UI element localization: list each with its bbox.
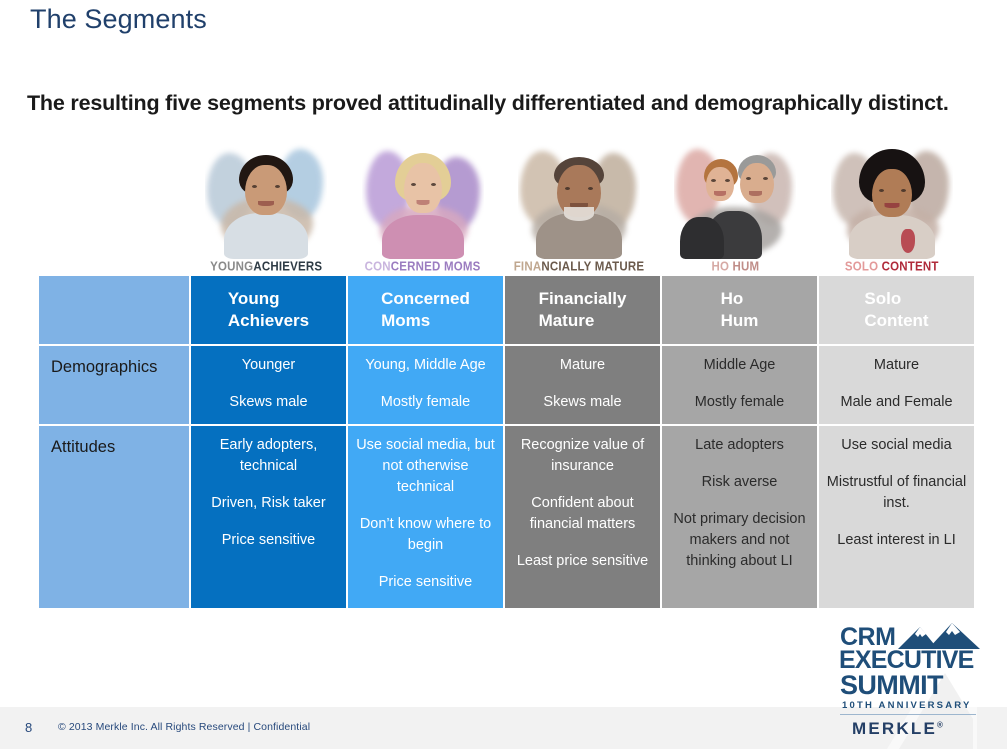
caption-part-b: CERNED MOMS bbox=[391, 260, 481, 273]
logo-divider bbox=[840, 714, 976, 715]
logo-anniversary-text: 10TH ANNIVERSARY bbox=[842, 700, 972, 711]
portrait-caption-ho-hum: HO HUM bbox=[711, 260, 759, 273]
cell-line: Young, Middle Age bbox=[354, 355, 497, 376]
caption-part-a: CON bbox=[365, 260, 391, 273]
header-line-2: Achievers bbox=[228, 310, 309, 332]
portrait-ho-hum: HO HUM bbox=[657, 133, 813, 273]
cell-line: Recognize value of insurance bbox=[511, 435, 654, 477]
cell-line: Confident about financial matters bbox=[511, 493, 654, 535]
segment-comparison-table: Young Achievers Concerned Moms Financial… bbox=[37, 274, 976, 610]
cell-line: Mature bbox=[825, 355, 968, 376]
cell-demographics-solo-content: Mature Male and Female bbox=[819, 346, 974, 424]
cell-line: Price sensitive bbox=[197, 530, 340, 551]
cell-line: Mostly female bbox=[354, 392, 497, 413]
cell-demographics-concerned-moms: Young, Middle Age Mostly female bbox=[348, 346, 503, 424]
portrait-caption-concerned-moms: CONCERNED MOMS bbox=[365, 260, 481, 273]
caption-part-a: YOUNG bbox=[210, 260, 253, 273]
logo-summit-text: SUMMIT bbox=[840, 672, 943, 699]
header-line-2: Content bbox=[864, 310, 928, 332]
cell-line: Middle Age bbox=[668, 355, 811, 376]
cell-line: Use social media bbox=[825, 435, 968, 456]
cell-attitudes-financially-mature: Recognize value of insurance Confident a… bbox=[505, 426, 660, 608]
cell-line: Least interest in LI bbox=[825, 530, 968, 551]
cell-line: Use social media, but not otherwise tech… bbox=[354, 435, 497, 498]
cell-line: Risk averse bbox=[668, 472, 811, 493]
cell-line: Male and Female bbox=[825, 392, 968, 413]
cell-line: Mostly female bbox=[668, 392, 811, 413]
page-title: The Segments bbox=[30, 4, 207, 35]
table-header-blank bbox=[39, 276, 189, 344]
cell-line: Price sensitive bbox=[354, 572, 497, 593]
cell-demographics-young-achievers: Younger Skews male bbox=[191, 346, 346, 424]
caption-part-a: FINA bbox=[514, 260, 542, 273]
table-header-solo-content: Solo Content bbox=[819, 276, 974, 344]
cell-demographics-ho-hum: Middle Age Mostly female bbox=[662, 346, 817, 424]
header-line-2: Moms bbox=[381, 310, 470, 332]
cell-line: Late adopters bbox=[668, 435, 811, 456]
cell-line: Not primary decision makers and not thin… bbox=[668, 509, 811, 572]
caption-part-b: ACHIEVERS bbox=[253, 260, 322, 273]
portrait-image-financially-mature bbox=[518, 143, 640, 259]
cell-line: Least price sensitive bbox=[511, 551, 654, 572]
header-line-1: Young bbox=[228, 288, 309, 310]
caption-part-a: SOLO bbox=[845, 260, 882, 273]
portrait-image-solo-content bbox=[831, 143, 953, 259]
row-label-demographics-cell: Demographics bbox=[39, 346, 189, 424]
portrait-image-ho-hum bbox=[674, 143, 796, 259]
portrait-image-concerned-moms bbox=[362, 143, 484, 259]
portrait-caption-solo-content: SOLO CONTENT bbox=[845, 260, 939, 273]
table-header-financially-mature: Financially Mature bbox=[505, 276, 660, 344]
header-line-2: Hum bbox=[721, 310, 759, 332]
merkle-wordmark: MERKLE® bbox=[852, 719, 943, 739]
table-header-young-achievers: Young Achievers bbox=[191, 276, 346, 344]
portrait-young-achievers: YOUNGACHIEVERS bbox=[188, 133, 344, 273]
cell-line: Skews male bbox=[511, 392, 654, 413]
cell-attitudes-solo-content: Use social media Mistrustful of financia… bbox=[819, 426, 974, 608]
segment-portrait-strip: YOUNGACHIEVERS CONCERNED MOMS bbox=[188, 133, 970, 273]
page-number: 8 bbox=[25, 720, 32, 735]
table-row-attitudes: Attitudes Early adopters, technical Driv… bbox=[39, 426, 974, 608]
row-label-demographics: Demographics bbox=[39, 346, 189, 424]
caption-part-b: CONTENT bbox=[882, 260, 939, 273]
portrait-image-young-achievers bbox=[205, 143, 327, 259]
cell-line: Don’t know where to begin bbox=[354, 514, 497, 556]
cell-demographics-financially-mature: Mature Skews male bbox=[505, 346, 660, 424]
copyright-notice: © 2013 Merkle Inc. All Rights Reserved |… bbox=[58, 721, 310, 733]
table-header-concerned-moms: Concerned Moms bbox=[348, 276, 503, 344]
cell-line: Early adopters, technical bbox=[197, 435, 340, 477]
cell-attitudes-ho-hum: Late adopters Risk averse Not primary de… bbox=[662, 426, 817, 608]
portrait-caption-financially-mature: FINANCIALLY MATURE bbox=[514, 260, 645, 273]
header-line-1: Financially bbox=[539, 288, 627, 310]
row-label-attitudes-cell: Attitudes bbox=[39, 426, 189, 608]
portrait-financially-mature: FINANCIALLY MATURE bbox=[501, 133, 657, 273]
registered-mark: ® bbox=[937, 720, 943, 729]
caption-part-a: HO bbox=[711, 260, 732, 273]
cell-line: Skews male bbox=[197, 392, 340, 413]
table-row-demographics: Demographics Younger Skews male Young, M… bbox=[39, 346, 974, 424]
crm-executive-summit-logo: CRM EXECUTIVE SUMMIT 10TH ANNIVERSARY ME… bbox=[836, 619, 982, 737]
cell-line: Mature bbox=[511, 355, 654, 376]
cell-line: Driven, Risk taker bbox=[197, 493, 340, 514]
row-label-attitudes: Attitudes bbox=[39, 426, 189, 608]
table-header-row: Young Achievers Concerned Moms Financial… bbox=[39, 276, 974, 344]
cell-attitudes-young-achievers: Early adopters, technical Driven, Risk t… bbox=[191, 426, 346, 608]
header-line-2: Mature bbox=[539, 310, 627, 332]
cell-line: Mistrustful of financial inst. bbox=[825, 472, 968, 514]
cell-line: Younger bbox=[197, 355, 340, 376]
caption-part-b: NCIALLY MATURE bbox=[541, 260, 644, 273]
caption-part-b: HUM bbox=[732, 260, 759, 273]
header-line-1: Solo bbox=[864, 288, 928, 310]
merkle-text: MERKLE bbox=[852, 719, 937, 738]
portrait-solo-content: SOLO CONTENT bbox=[814, 133, 970, 273]
header-line-1: Concerned bbox=[381, 288, 470, 310]
table-header-ho-hum: Ho Hum bbox=[662, 276, 817, 344]
portrait-caption-young-achievers: YOUNGACHIEVERS bbox=[210, 260, 322, 273]
lead-statement: The resulting five segments proved attit… bbox=[27, 90, 957, 118]
cell-attitudes-concerned-moms: Use social media, but not otherwise tech… bbox=[348, 426, 503, 608]
header-line-1: Ho bbox=[721, 288, 759, 310]
portrait-concerned-moms: CONCERNED MOMS bbox=[344, 133, 500, 273]
